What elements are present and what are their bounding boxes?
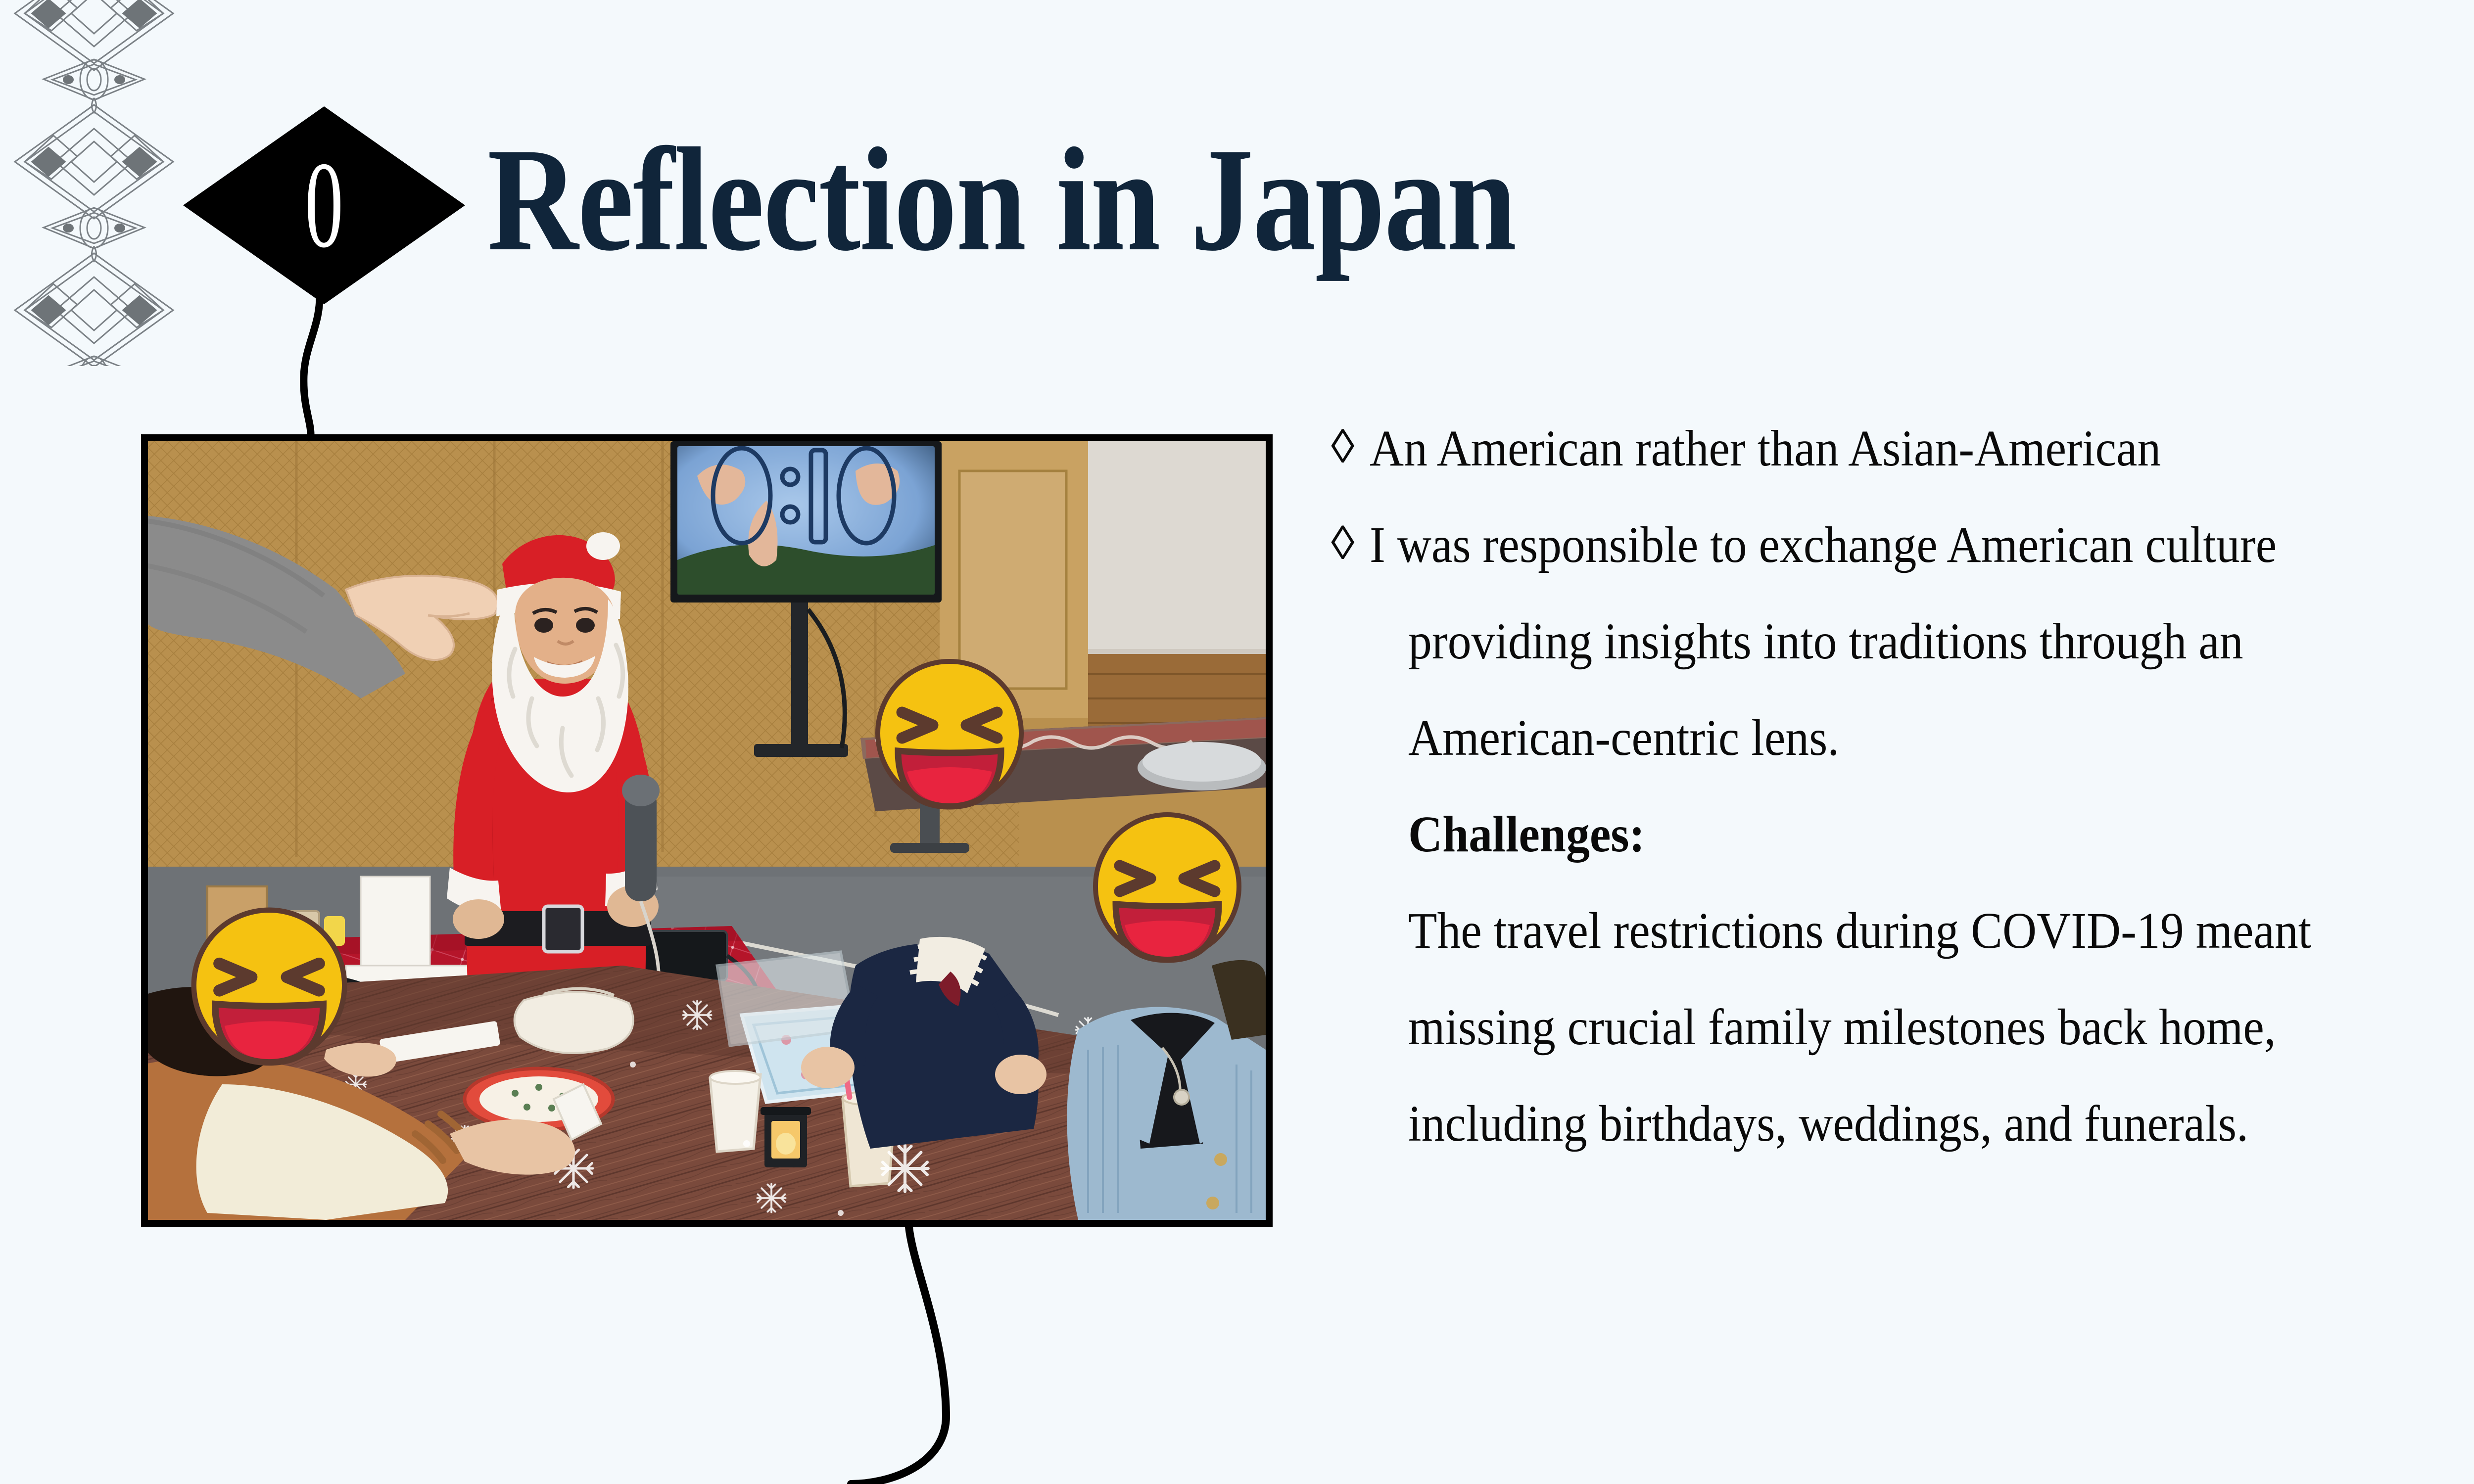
- lozenge-bullet-icon: ◊: [1331, 423, 1370, 470]
- body-line-2: ◊ providing insights into traditions thr…: [1331, 616, 2469, 667]
- event-photo-illustration: [148, 441, 1266, 1220]
- connector-badge-to-photo: [304, 297, 320, 434]
- body-line-text: American-centric lens.: [1408, 712, 1839, 764]
- body-line-3: ◊ American-centric lens.: [1331, 712, 2469, 764]
- event-photo: [148, 441, 1266, 1220]
- badge-number-label: 0: [237, 106, 411, 304]
- body-line-text: Challenges:: [1408, 809, 1645, 860]
- body-line-text: The travel restrictions during COVID-19 …: [1408, 905, 2311, 957]
- body-line-text: including birthdays, weddings, and funer…: [1408, 1098, 2248, 1150]
- lozenge-bullet-icon: ◊: [1331, 519, 1370, 567]
- body-line-text: providing insights into traditions throu…: [1408, 616, 2243, 667]
- event-photo-frame: [141, 434, 1273, 1227]
- body-line-text: An American rather than Asian-American: [1370, 423, 2161, 474]
- connector-photo-to-bottom: [851, 1227, 946, 1484]
- body-line-1: ◊ I was responsible to exchange American…: [1331, 519, 2469, 571]
- body-line-7: ◊ including birthdays, weddings, and fun…: [1331, 1098, 2469, 1150]
- body-line-text: missing crucial family milestones back h…: [1408, 1002, 2276, 1053]
- slide-canvas: 0 Reflection in Japan: [0, 0, 2474, 1484]
- body-line-6: ◊ missing crucial family milestones back…: [1331, 1002, 2469, 1053]
- body-line-4-challenges-heading: ◊ Challenges:: [1331, 809, 2469, 860]
- body-line-5: ◊ The travel restrictions during COVID-1…: [1331, 905, 2469, 957]
- body-line-text: I was responsible to exchange American c…: [1370, 519, 2277, 571]
- body-line-0: ◊ An American rather than Asian-American: [1331, 423, 2469, 474]
- page-title: Reflection in Japan: [487, 124, 1516, 275]
- body-text-column: ◊ An American rather than Asian-American…: [1331, 423, 2469, 1195]
- slide-number-badge: 0: [183, 106, 465, 304]
